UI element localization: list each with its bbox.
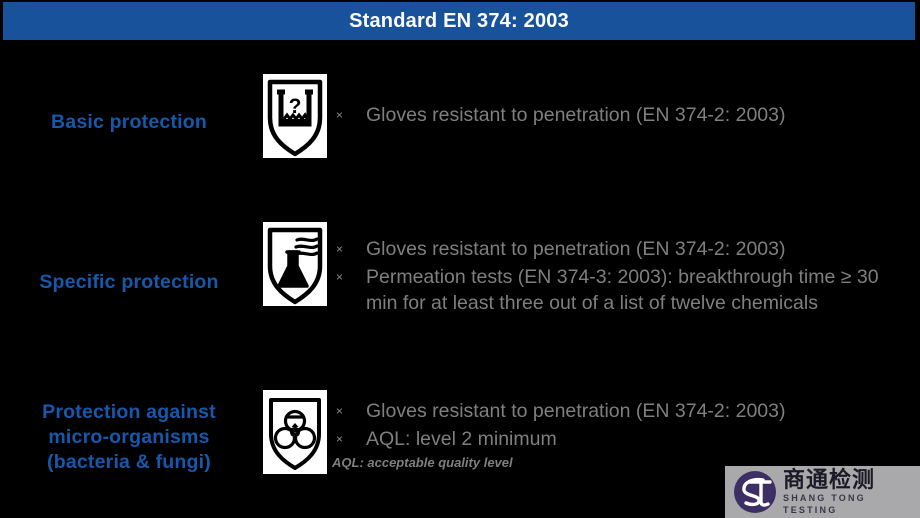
logo-monogram-icon [729,469,781,515]
bullet-text: Gloves resistant to penetration (EN 374-… [366,102,892,128]
shield-biohazard-pictogram [263,390,327,474]
bullet-marker-icon: × [332,264,366,290]
list-item: × Gloves resistant to penetration (EN 37… [332,398,920,424]
icon-cell-micro-organisms [258,390,332,474]
row-label-line: Protection against [0,400,258,425]
logo-english-name: SHANG TONG TESTING [783,492,920,516]
shield-beaker-question-pictogram: ? [263,74,327,158]
row-label-specific-protection: Specific protection [0,222,258,295]
bullet-marker-icon: × [332,102,366,128]
company-logo: 商通检测 SHANG TONG TESTING [725,466,920,518]
bullet-list-specific-protection: × Gloves resistant to penetration (EN 37… [332,222,920,318]
row-label-line: micro-organisms [0,425,258,450]
row-label-micro-organisms: Protection against micro-organisms (bact… [0,390,258,475]
list-item: × Gloves resistant to penetration (EN 37… [332,102,920,128]
row-label-line: (bacteria & fungi) [0,450,258,475]
logo-text-block: 商通检测 SHANG TONG TESTING [783,468,920,516]
logo-chinese-name: 商通检测 [783,468,920,492]
icon-cell-specific-protection [258,222,332,306]
bullet-marker-icon: × [332,236,366,262]
bullet-marker-icon: × [332,426,366,452]
row-label-basic-protection: Basic protection [0,74,258,135]
list-item: × Gloves resistant to penetration (EN 37… [332,236,920,262]
section-row-micro-organisms: Protection against micro-organisms (bact… [0,390,920,475]
list-item: × Permeation tests (EN 374-3: 2003): bre… [332,264,920,316]
page-title: Standard EN 374: 2003 [349,10,569,33]
bullet-list-basic-protection: × Gloves resistant to penetration (EN 37… [332,74,920,130]
section-row-basic-protection: Basic protection ? × Gloves resistant to… [0,74,920,158]
icon-cell-basic-protection: ? [258,74,332,158]
shield-flask-fumes-pictogram [263,222,327,306]
bullet-text: AQL: level 2 minimum [366,426,892,452]
bullet-text: Gloves resistant to penetration (EN 374-… [366,398,892,424]
bullet-text: Permeation tests (EN 374-3: 2003): break… [366,264,892,316]
bullet-marker-icon: × [332,398,366,424]
section-row-specific-protection: Specific protection × Gloves resistant t… [0,222,920,318]
list-item: × AQL: level 2 minimum [332,426,920,452]
header-bar: Standard EN 374: 2003 [3,2,915,40]
bullet-text: Gloves resistant to penetration (EN 374-… [366,236,892,262]
bullet-list-micro-organisms: × Gloves resistant to penetration (EN 37… [332,390,920,472]
